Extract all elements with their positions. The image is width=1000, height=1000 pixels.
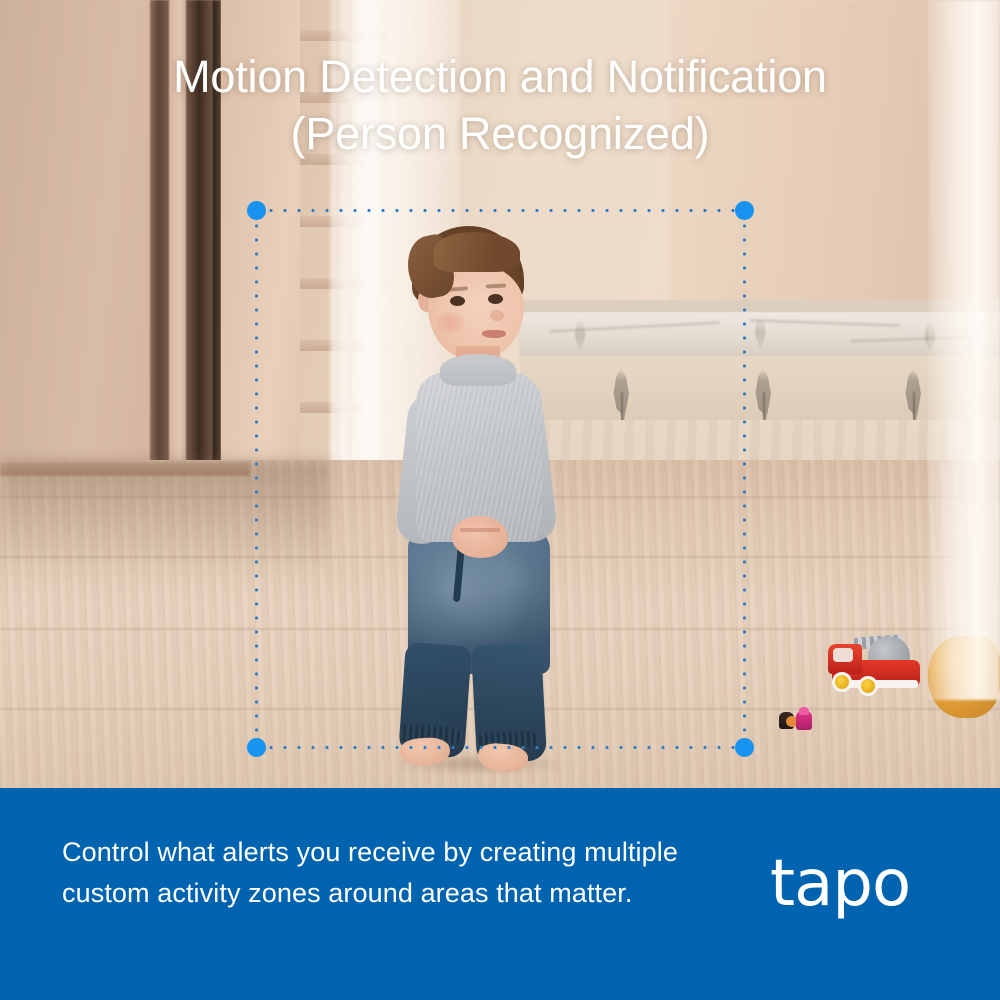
floor-shadow	[0, 460, 330, 580]
toy-figure-pink-top	[799, 707, 809, 715]
toy-fire-truck	[828, 632, 922, 694]
fire-truck-wheel	[858, 676, 878, 696]
mouth	[482, 330, 506, 338]
product-feature-card: Motion Detection and Notification (Perso…	[0, 0, 1000, 1000]
clasped-hands	[452, 516, 508, 558]
fire-truck-window	[833, 648, 853, 662]
nose	[490, 310, 504, 321]
eye-left	[450, 296, 465, 306]
feature-banner: Control what alerts you receive by creat…	[0, 788, 1000, 1000]
page-title: Motion Detection and Notification (Perso…	[0, 48, 1000, 162]
turtleneck-collar	[440, 354, 516, 386]
feature-caption: Control what alerts you receive by creat…	[62, 832, 752, 914]
toddler-figure	[378, 226, 568, 736]
camera-scene-photo: Motion Detection and Notification (Perso…	[0, 0, 1000, 788]
cheek	[436, 312, 464, 334]
eye-right	[488, 294, 503, 304]
hair-fringe	[434, 232, 520, 272]
fire-truck-wheel	[832, 672, 852, 692]
tapo-logo: tapo	[770, 852, 910, 916]
